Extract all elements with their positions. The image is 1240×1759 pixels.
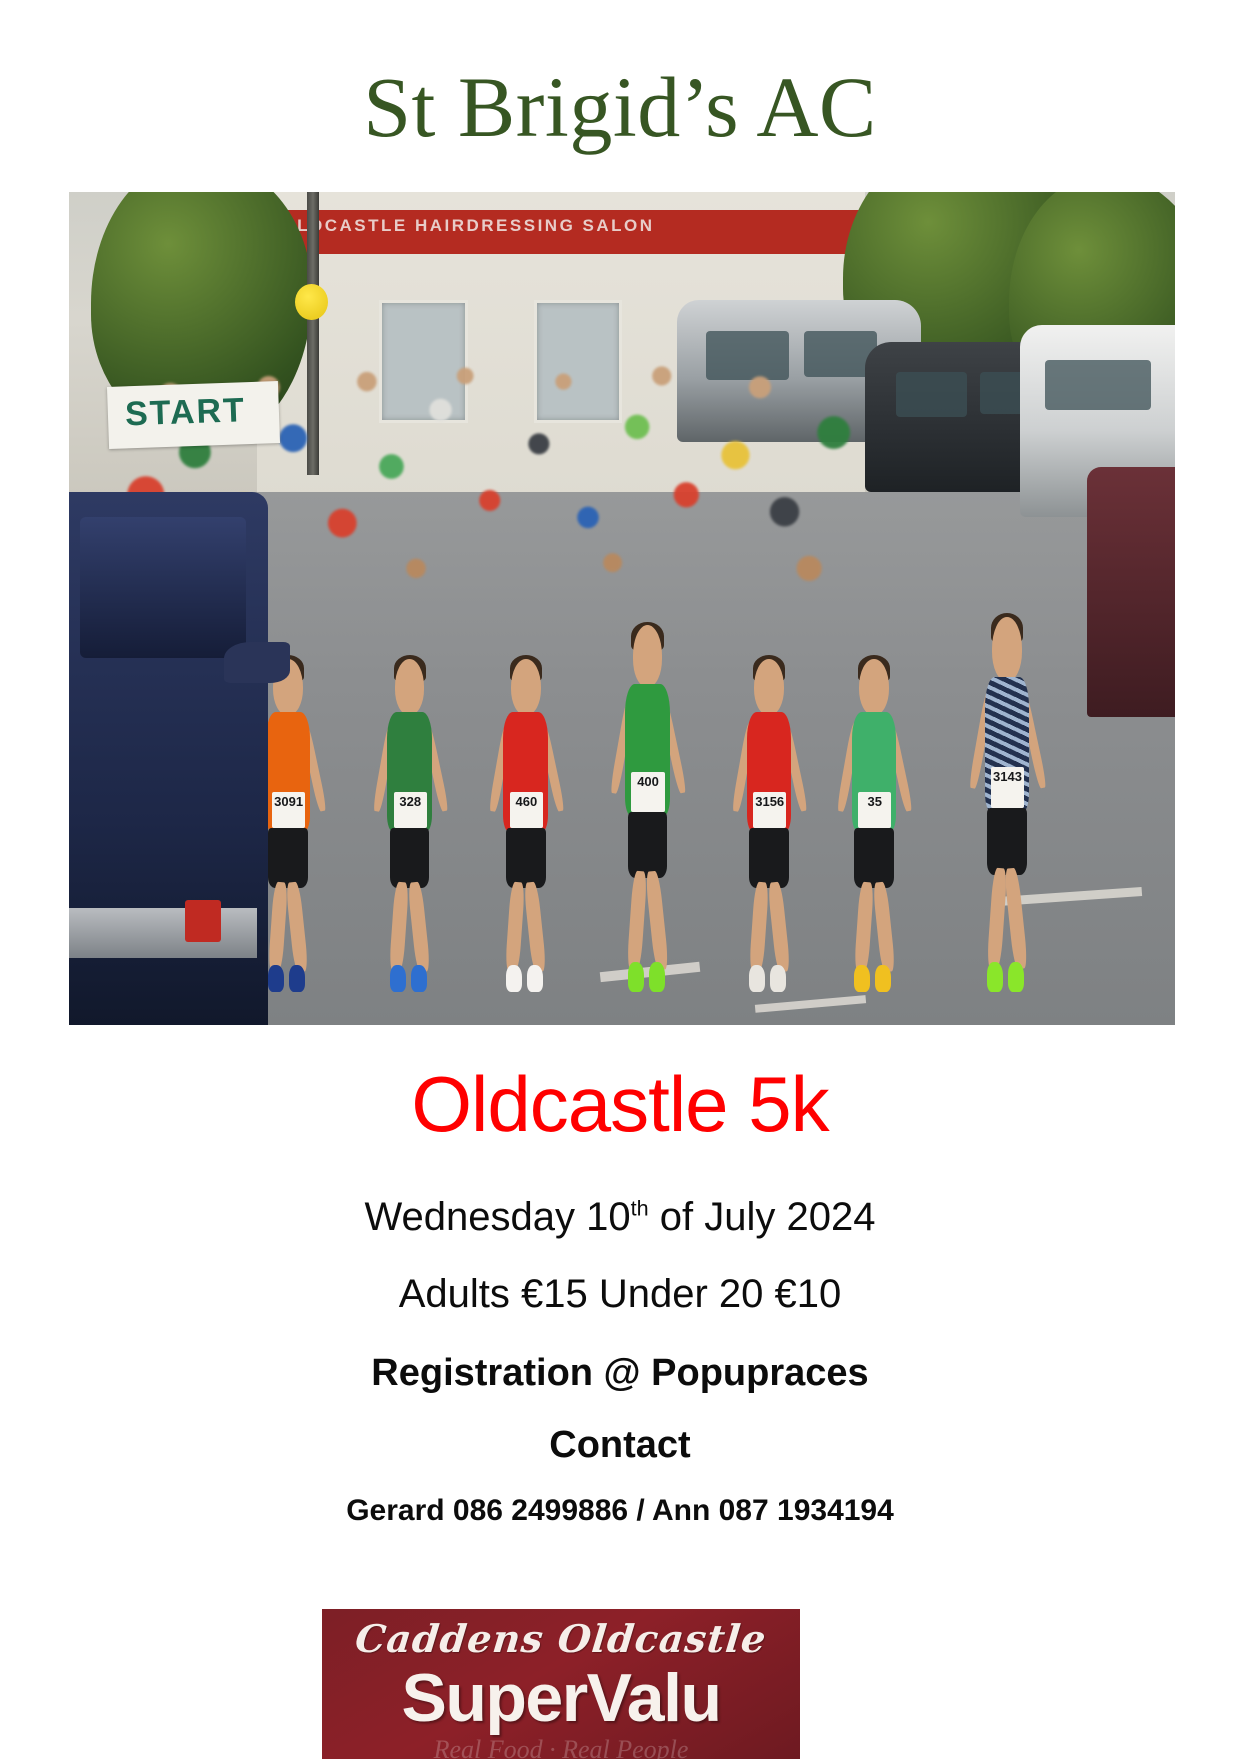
race-photo-illustration: OLDCASTLE HAIRDRESSING SALON	[69, 192, 1175, 1025]
sponsor-logo: Caddens Oldcastle SuperValu Real Food · …	[322, 1609, 800, 1759]
runner: 328	[379, 659, 441, 992]
entry-prices: Adults €15 Under 20 €10	[0, 1272, 1240, 1317]
suv-taillight	[185, 900, 220, 942]
runner: 35	[843, 659, 905, 992]
parked-car	[1087, 467, 1175, 717]
registration-info: Registration @ Popupraces	[0, 1352, 1240, 1395]
race-date: Wednesday 10th of July 2024	[0, 1195, 1240, 1240]
shopfront-fascia: OLDCASTLE HAIRDRESSING SALON	[257, 210, 865, 253]
start-banner-text: START	[124, 391, 246, 434]
sponsor-tagline: Real Food · Real People	[322, 1735, 800, 1759]
suv-window	[80, 517, 246, 659]
shopfront-sign-text: OLDCASTLE HAIRDRESSING SALON	[281, 216, 654, 236]
race-title: Oldcastle 5k	[0, 1065, 1240, 1143]
runner-bib: 460	[510, 792, 543, 829]
runner: 460	[495, 659, 557, 992]
sponsor-brand-name: SuperValu	[322, 1659, 800, 1737]
race-poster: St Brigid’s AC OLDCASTLE HAIRDRESSING SA…	[0, 0, 1240, 1754]
suv-mirror	[224, 642, 290, 684]
race-date-suffix: of July 2024	[649, 1195, 876, 1239]
runner-bib: 3091	[272, 792, 305, 829]
race-date-prefix: Wednesday 10	[365, 1195, 631, 1239]
sponsor-store-name: Caddens Oldcastle	[322, 1616, 800, 1661]
race-photo: OLDCASTLE HAIRDRESSING SALON	[69, 192, 1175, 1025]
runner-bib: 3143	[991, 767, 1024, 808]
runner-bib: 3156	[753, 792, 786, 829]
contact-numbers: Gerard 086 2499886 / Ann 087 1934194	[0, 1494, 1240, 1528]
runner-leader: 400	[616, 625, 678, 992]
runner: 3156	[738, 659, 800, 992]
traffic-light-icon	[295, 284, 328, 321]
club-title: St Brigid’s AC	[0, 62, 1240, 152]
race-date-ordinal: th	[631, 1196, 649, 1221]
suv-bumper	[69, 908, 257, 958]
contact-heading: Contact	[0, 1424, 1240, 1467]
runner-bib: 35	[858, 792, 891, 829]
runner-bib: 328	[394, 792, 427, 829]
runner-bib: 400	[631, 772, 664, 812]
start-banner: START	[107, 381, 280, 449]
runner: 3143	[976, 617, 1038, 992]
